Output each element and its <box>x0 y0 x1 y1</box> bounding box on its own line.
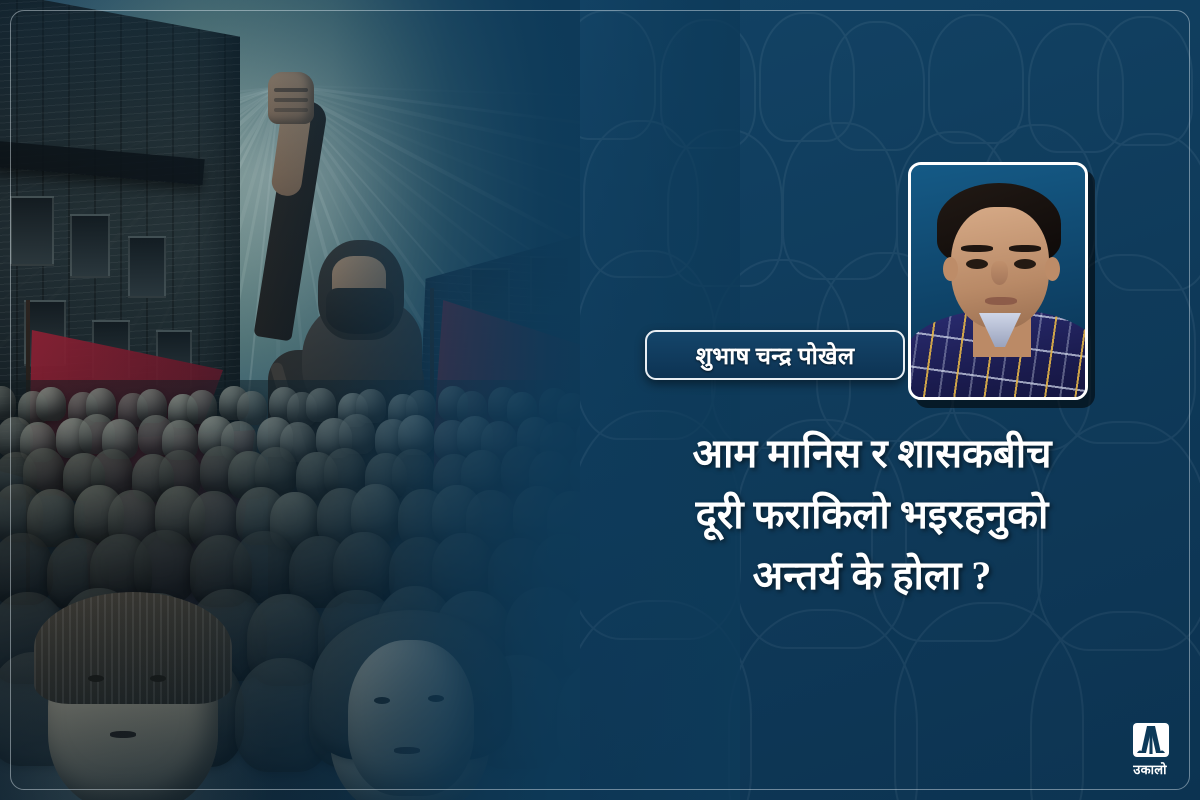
eyebrow <box>1009 245 1041 252</box>
poster-root: शुभाष चन्द्र पोखेल आम मानिस र शासकबीच दू… <box>0 0 1200 800</box>
watermark-head <box>928 14 1024 144</box>
headline-line-2: दूरी फराकिलो भइरहनुको <box>612 485 1132 546</box>
panel-left-fade <box>580 0 740 800</box>
headline-line-3: अन्तर्य के होला ? <box>612 546 1132 607</box>
watermark-head <box>728 609 918 800</box>
nose <box>991 261 1008 285</box>
content-panel <box>580 0 1200 800</box>
eye <box>966 259 988 269</box>
ukalo-peak-logo-icon <box>1130 722 1170 760</box>
author-name-badge: शुभाष चन्द्र पोखेल <box>645 330 905 380</box>
headline: आम मानिस र शासकबीच दूरी फराकिलो भइरहनुको… <box>612 424 1132 606</box>
author-name: शुभाष चन्द्र पोखेल <box>696 339 855 372</box>
brand-name: उकालो <box>1124 763 1176 776</box>
eyebrow <box>961 245 993 252</box>
protest-illustration <box>0 0 640 800</box>
ear <box>1045 257 1060 281</box>
illustration-blue-wash <box>0 0 640 800</box>
mouth <box>985 297 1017 305</box>
ear <box>943 257 958 281</box>
watermark-head <box>1097 16 1193 146</box>
headline-line-1: आम मानिस र शासकबीच <box>612 424 1132 485</box>
author-portrait <box>908 162 1088 400</box>
brand-logo[interactable]: उकालो <box>1124 722 1176 780</box>
eye <box>1014 259 1036 269</box>
